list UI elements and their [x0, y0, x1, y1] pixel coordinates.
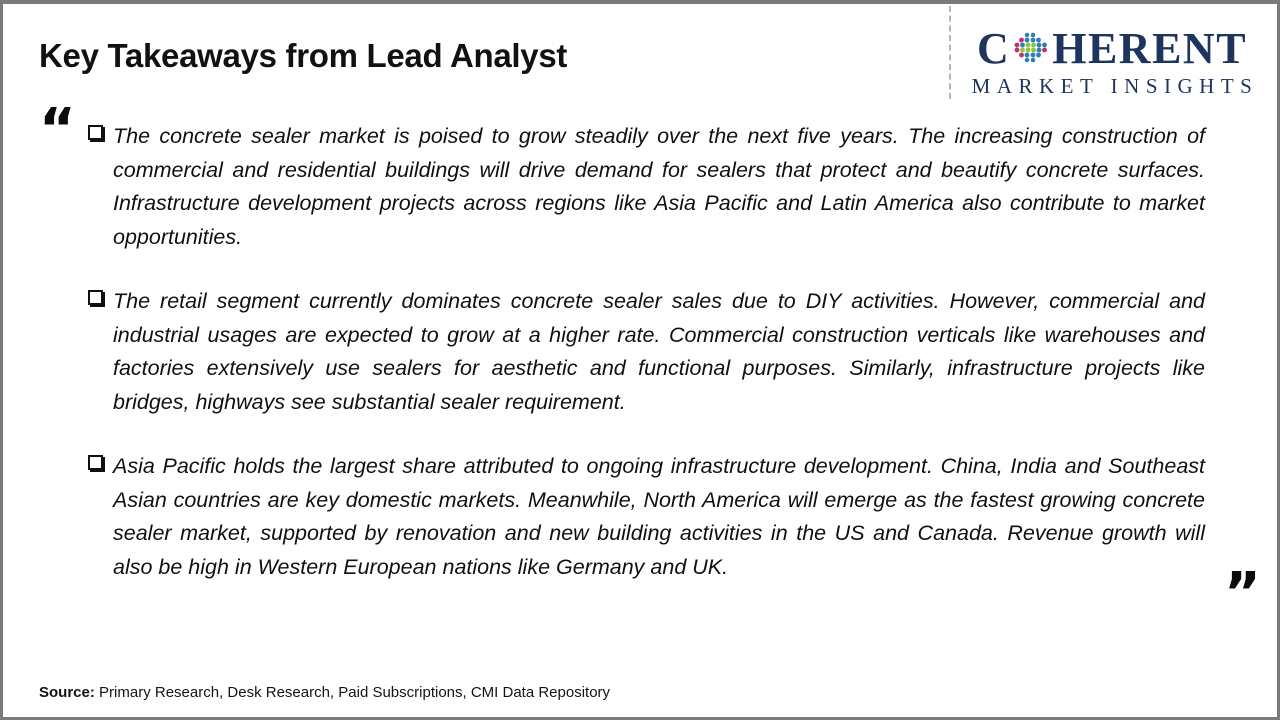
takeaway-text-1: The concrete sealer market is poised to …: [113, 124, 1205, 249]
quote-close-icon: ”: [1224, 566, 1261, 622]
slide-canvas: Key Takeaways from Lead Analyst C: [0, 0, 1280, 720]
page-title: Key Takeaways from Lead Analyst: [39, 37, 567, 75]
takeaway-item-3: Asia Pacific holds the largest share att…: [87, 450, 1205, 584]
globe-dots-icon: [1011, 29, 1051, 69]
takeaway-item-2: The retail segment currently dominates c…: [87, 285, 1205, 419]
brand-tagline: MARKET INSIGHTS: [965, 74, 1259, 99]
quote-open-icon: “: [39, 102, 76, 158]
takeaways-list: The concrete sealer market is poised to …: [87, 120, 1205, 584]
hollow-square-bullet-icon: [88, 290, 103, 305]
brand-wordmark: C: [965, 26, 1259, 72]
takeaway-text-3: Asia Pacific holds the largest share att…: [113, 454, 1205, 579]
header-divider: [949, 6, 951, 99]
brand-letter-c: C: [977, 27, 1010, 71]
source-note: Source: Primary Research, Desk Research,…: [39, 684, 610, 701]
source-label: Source:: [39, 684, 95, 701]
takeaway-text-2: The retail segment currently dominates c…: [113, 289, 1205, 414]
brand-letters-herent: HERENT: [1052, 27, 1247, 71]
brand-logo: C: [965, 26, 1259, 99]
takeaway-item-1: The concrete sealer market is poised to …: [87, 120, 1205, 254]
source-text: Primary Research, Desk Research, Paid Su…: [95, 684, 610, 701]
hollow-square-bullet-icon: [88, 125, 103, 140]
hollow-square-bullet-icon: [88, 455, 103, 470]
